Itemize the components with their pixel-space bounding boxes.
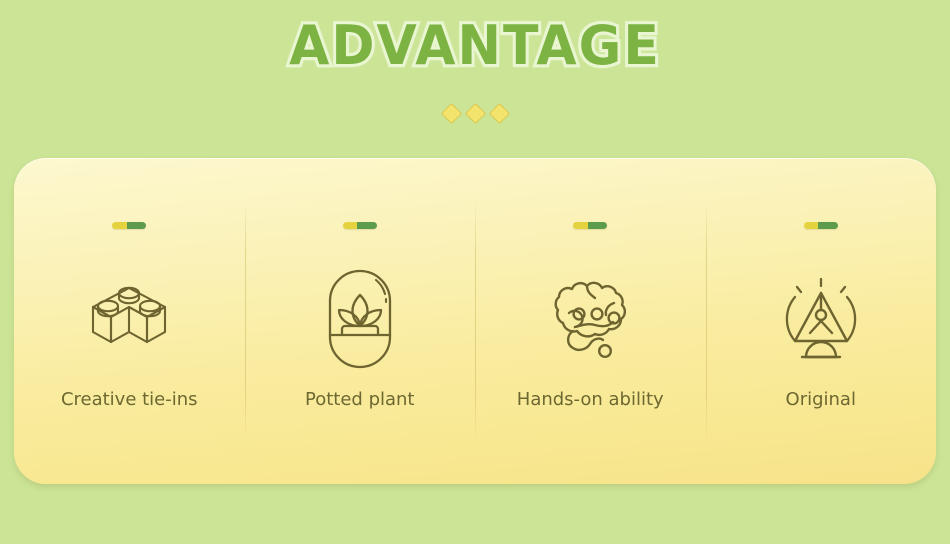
page-title: ADVANTAGE: [289, 15, 661, 78]
advantage-card-original[interactable]: Original: [706, 158, 937, 484]
pill-segment-green: [588, 222, 608, 229]
card-label: Potted plant: [305, 389, 415, 410]
pill-segment-yellow: [804, 222, 818, 229]
brain-icon: [535, 269, 645, 369]
pill-segment-yellow: [573, 222, 587, 229]
diamond-icon: [488, 103, 509, 124]
lego-brick-icon: [74, 269, 184, 369]
pill-segment-green: [357, 222, 377, 229]
advantage-card-creative-tie-ins[interactable]: Creative tie-ins: [14, 158, 245, 484]
pill-segment-green: [818, 222, 838, 229]
advantage-panel: Creative tie-ins: [14, 158, 936, 484]
pill-segment-green: [127, 222, 147, 229]
card-accent-pill: [804, 222, 838, 229]
card-label: Creative tie-ins: [61, 389, 198, 410]
advantage-card-potted-plant[interactable]: Potted plant: [245, 158, 476, 484]
pill-segment-yellow: [112, 222, 126, 229]
pen-nib-icon: [766, 269, 876, 369]
card-label: Hands-on ability: [517, 389, 664, 410]
card-label: Original: [786, 389, 856, 410]
card-accent-pill: [573, 222, 607, 229]
pill-segment-yellow: [343, 222, 357, 229]
page-header: ADVANTAGE: [0, 16, 950, 76]
diamond-icon: [464, 103, 485, 124]
advantage-card-hands-on-ability[interactable]: Hands-on ability: [475, 158, 706, 484]
card-accent-pill: [343, 222, 377, 229]
card-accent-pill: [112, 222, 146, 229]
diamond-divider: [0, 106, 950, 121]
potted-plant-icon: [305, 269, 415, 369]
diamond-icon: [440, 103, 461, 124]
